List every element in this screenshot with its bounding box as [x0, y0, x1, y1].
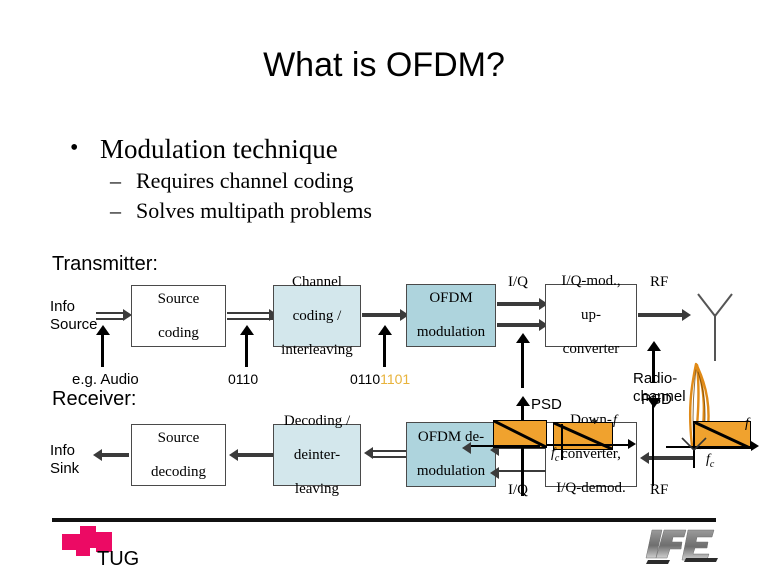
page-title: What is OFDM?	[0, 46, 768, 85]
rx-iq-label: I/Q	[508, 482, 528, 499]
info-source-label-line2: Source	[50, 316, 98, 333]
bits-after-source-coding: 0110	[228, 371, 258, 387]
psd-3-carrier-sub: c	[710, 459, 714, 470]
info-sink-label-line2: Sink	[50, 460, 79, 477]
bullet-level1-text: Modulation technique	[100, 134, 338, 164]
bullet-level2-item: – Solves multipath problems	[62, 196, 662, 226]
bullet-dot-icon: •	[70, 131, 78, 165]
tx-bits1-stem	[245, 333, 248, 367]
block-channel-coding-line3: interleaving	[278, 342, 356, 359]
tx-iq-line-top	[497, 302, 543, 306]
slide-canvas: What is OFDM? • Modulation technique – R…	[0, 0, 768, 576]
tx-arrow-2	[362, 313, 404, 317]
tx-arrow-1-bottom	[227, 318, 273, 320]
bullet-level2-text: Solves multipath problems	[136, 198, 372, 223]
block-ofdm-demodulation[interactable]: OFDM de- modulation	[406, 422, 496, 487]
tx-rf-label: RF	[650, 274, 668, 291]
rx-psd-arrowhead	[516, 396, 530, 406]
block-ofdm-modulation[interactable]: OFDM modulation	[406, 284, 496, 347]
block-ofdm-demod-line1: OFDM de-	[414, 429, 488, 446]
bits-after-channel-coding: 01101101	[350, 371, 410, 387]
tx-bits2-arrowhead	[378, 325, 392, 335]
tug-logo-block-3	[76, 542, 90, 556]
radio-channel-label-line1: Radio-	[633, 370, 677, 387]
info-sink-label-line1: Info	[50, 442, 75, 459]
block-source-coding-line1: Source	[155, 291, 203, 308]
rx-arrowhead-1	[229, 449, 238, 461]
receive-antenna-icon	[676, 436, 712, 458]
block-decoding-line1: Decoding /	[281, 413, 353, 430]
rx-radiochannel-axis	[652, 400, 654, 486]
tx-bits1-arrowhead	[240, 325, 254, 335]
bullet-dash-icon: –	[110, 196, 121, 226]
psd-2-carrier-label: fc	[551, 446, 559, 464]
block-iq-mod-line2: up-	[558, 307, 623, 324]
bullet-list: • Modulation technique – Requires channe…	[62, 132, 662, 226]
psd-2-star-marker: *	[591, 416, 599, 433]
block-channel-coding[interactable]: Channel coding / interleaving	[273, 285, 361, 347]
psd-2-freq-label: f	[613, 413, 617, 429]
rx-psd-label: PSD	[531, 396, 562, 413]
psd-1-freq-axis	[468, 445, 540, 447]
tx-radiochannel-arrowhead	[647, 341, 661, 351]
bullet-dash-icon: –	[110, 166, 121, 196]
rx-rf-arrowhead	[640, 452, 649, 464]
block-ofdm-modulation-line2: modulation	[414, 324, 488, 341]
block-source-coding-line2: coding	[155, 325, 203, 342]
rx-arrow-2-bottom	[372, 456, 406, 458]
block-source-decoding-line2: decoding	[148, 464, 209, 481]
psd-2-carrier-tick	[561, 424, 563, 460]
block-downconv-line3: I/Q-demod.	[553, 480, 629, 497]
receiver-caption: Receiver:	[52, 388, 136, 411]
bullet-level1: • Modulation technique	[62, 132, 662, 166]
block-iq-mod-upconverter[interactable]: I/Q-mod., up- converter	[545, 284, 637, 347]
tx-iq-line-bottom	[497, 323, 543, 327]
rx-psd-stem	[521, 404, 524, 496]
tx-iq-label: I/Q	[508, 274, 528, 291]
radio-channel-psd-label: PSD	[641, 391, 672, 408]
eg-audio-label: e.g. Audio	[72, 371, 139, 388]
psd-1-axis-arrow	[462, 442, 471, 454]
block-channel-coding-line2: coding /	[278, 308, 356, 325]
rx-iq-arrowhead-bottom	[490, 467, 499, 479]
psd-graphic-2: *	[553, 418, 631, 452]
ife-logo	[640, 524, 724, 568]
tx-arrow-in-bottom	[96, 318, 124, 320]
block-source-decoding[interactable]: Source decoding	[131, 424, 226, 486]
tug-logo-text: TUG	[97, 548, 139, 571]
tx-psd-arrowhead	[516, 333, 530, 343]
transmitter-caption: Transmitter:	[52, 253, 158, 276]
tx-psd-stem	[521, 342, 524, 388]
block-ofdm-modulation-line1: OFDM	[414, 290, 488, 307]
block-iq-mod-line3: converter	[558, 341, 623, 358]
bits-black-part: 0110	[350, 371, 380, 387]
psd-1-band	[493, 420, 547, 448]
psd-3-axis-arrow	[751, 441, 759, 451]
psd-1-slope-icon	[494, 421, 546, 447]
footer-divider	[52, 518, 716, 522]
block-ofdm-demod-line2: modulation	[414, 463, 488, 480]
tx-bits2-stem	[383, 333, 386, 367]
psd-2-axis-arrow	[628, 439, 636, 449]
tx-audio-arrowhead	[96, 325, 110, 335]
tx-arrow-1-top	[227, 312, 273, 314]
block-decoding-deinterleaving[interactable]: Decoding / deinter- leaving	[273, 424, 361, 486]
bits-orange-part: 1101	[380, 371, 410, 387]
psd-3-freq-label: f	[745, 416, 749, 432]
tx-audio-stem	[101, 333, 104, 367]
rx-arrow-out	[101, 453, 129, 457]
bullet-level2-item: – Requires channel coding	[62, 166, 662, 196]
block-iq-mod-line1: I/Q-mod.,	[558, 273, 623, 290]
rx-arrow-1	[237, 453, 273, 457]
tx-rf-line	[638, 313, 686, 317]
bullet-level2-text: Requires channel coding	[136, 168, 354, 193]
info-source-label-line1: Info	[50, 298, 75, 315]
block-source-decoding-line1: Source	[148, 430, 209, 447]
block-decoding-line3: leaving	[281, 481, 353, 498]
block-decoding-line2: deinter-	[281, 447, 353, 464]
rx-arrowhead-2	[364, 447, 373, 459]
tx-arrow-in-top	[96, 312, 124, 314]
block-channel-coding-line1: Channel	[278, 274, 356, 291]
block-source-coding[interactable]: Source coding	[131, 285, 226, 347]
rx-arrowhead-out	[93, 449, 102, 461]
psd-2-carrier-sub: c	[555, 453, 559, 464]
rx-arrow-2-top	[372, 450, 406, 452]
